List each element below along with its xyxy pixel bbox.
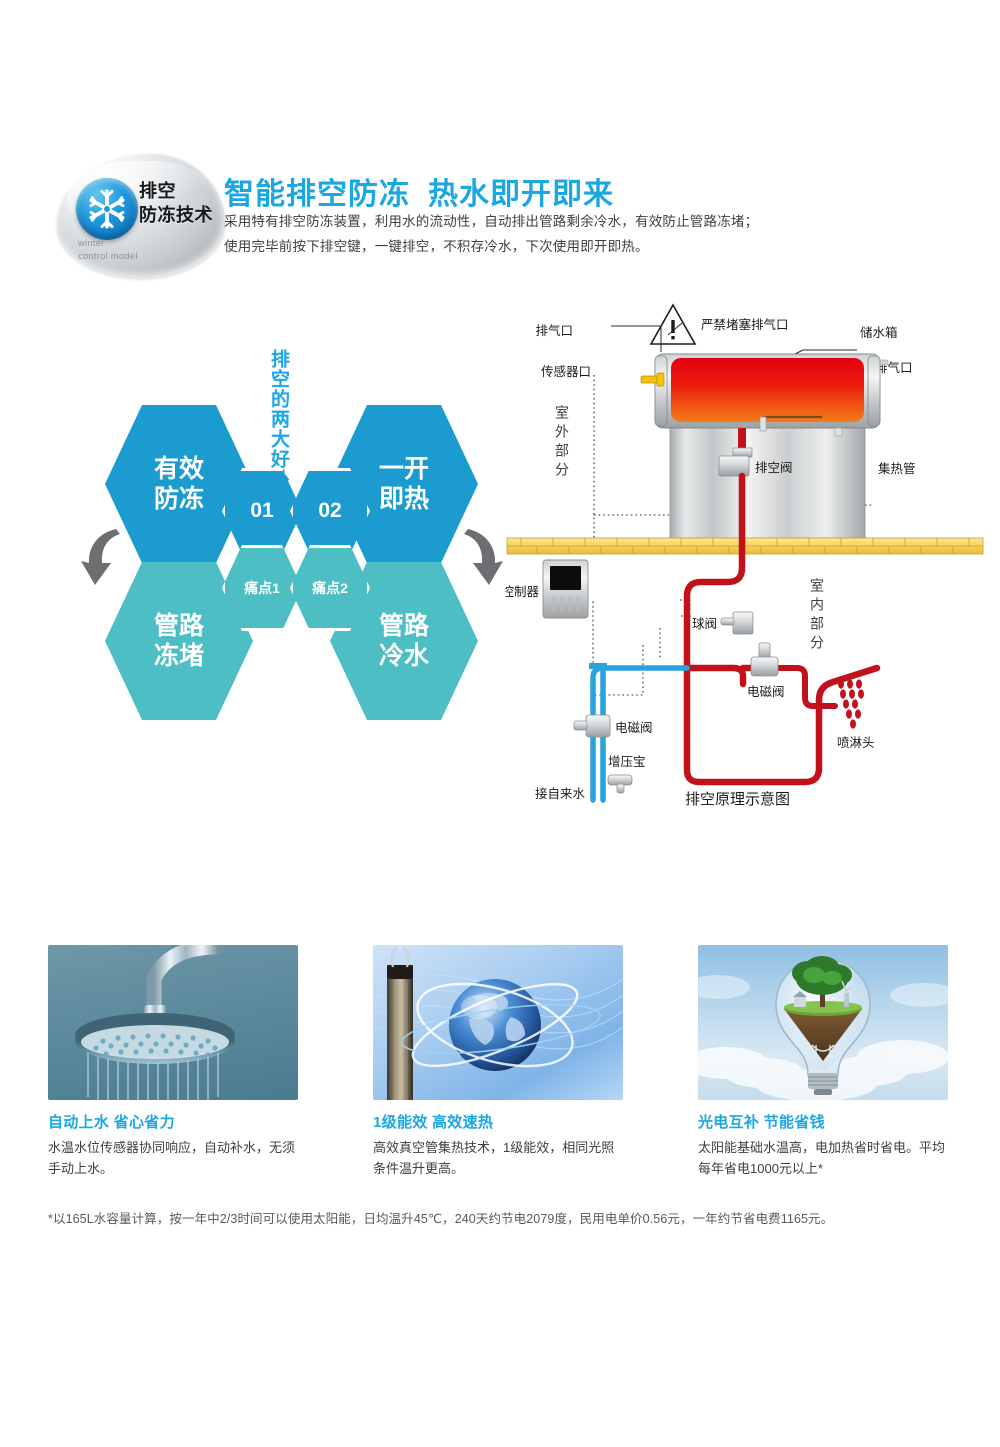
feature-card-3-title: 光电互补 节能省钱 <box>698 1111 948 1132</box>
eco-lightbulb-photo <box>698 945 948 1100</box>
sensor-port-fitting <box>641 373 664 386</box>
badge-cn-text: 排空 防冻技术 <box>139 180 223 228</box>
arrow-down-right-icon <box>458 527 504 587</box>
page-title-part1: 智能排空防冻 <box>224 178 410 211</box>
page-subtitle-line1: 采用特有排空防冻装置，利用水的流动性，自动排出管路剩余冷水，有效防止管路冻堵； <box>224 210 984 235</box>
hex-benefit-1-line1: 有效 <box>154 454 204 485</box>
drain-principle-schematic: 严禁堵塞排气口 排气口 传感器口 储水箱 排气口 集热管 <box>505 300 995 815</box>
badge-en-text: winter control model <box>78 237 198 263</box>
label-zone-indoor: 室内部分 <box>809 577 825 654</box>
hex-benefit-1-line2: 防冻 <box>154 484 204 515</box>
hex-painpoint-2-line2: 冷水 <box>379 641 429 672</box>
winter-control-badge: 排空 防冻技术 winter control model <box>57 154 225 278</box>
label-tap-water: 接自来水 <box>535 786 586 801</box>
feature-card-3-desc: 太阳能基础水温高，电加热省时省电。平均每年省电1000元以上* <box>698 1137 950 1179</box>
feature-card-2: 1级能效 高效速热 高效真空管集热技术，1级能效，相同光照条件温升更高。 <box>373 945 623 1179</box>
hex-benefit-1[interactable]: 有效 防冻 <box>105 405 253 563</box>
booster-pump <box>608 775 632 793</box>
hex-painpoint-2-line1: 管路 <box>379 611 429 642</box>
label-solenoid-valve-2: 电磁阀 <box>615 720 653 735</box>
label-ball-valve: 球阀 <box>692 617 717 631</box>
vacuum-tube-globe-photo <box>373 945 623 1100</box>
shower-head-photo <box>48 945 298 1100</box>
schematic-warning-label: 严禁堵塞排气口 <box>701 317 789 332</box>
label-collector-tube: 集热管 <box>878 461 916 476</box>
shower-head-icon <box>838 679 864 728</box>
label-solenoid-valve-1: 电磁阀 <box>747 684 785 699</box>
feature-card-2-title: 1级能效 高效速热 <box>373 1111 623 1132</box>
schematic-caption: 排空原理示意图 <box>685 790 790 808</box>
feature-card-2-desc: 高效真空管集热技术，1级能效，相同光照条件温升更高。 <box>373 1137 625 1179</box>
benefits-hex-diagram: 排空的两大好处 有效 防冻 01 一开 即热 02 管路 <box>80 345 510 705</box>
hex-benefit-2-line1: 一开 <box>379 454 429 485</box>
snowflake-icon <box>86 188 128 230</box>
label-booster: 增压宝 <box>608 754 646 769</box>
page-subtitle-line2: 使用完毕前按下排空键，一键排空，不积存冷水，下次使用即开即热。 <box>224 235 984 260</box>
solenoid-valve-cold <box>574 715 610 737</box>
badge-en-line1: winter <box>78 237 198 250</box>
hex-painpoint-1-line1: 管路 <box>154 611 204 642</box>
label-drain-valve: 排空阀 <box>755 461 793 475</box>
label-exhaust-left: 排气口 <box>535 323 573 338</box>
footnote: *以165L水容量计算，按一年中2/3时间可以使用太阳能，日均温升45℃，240… <box>48 1210 968 1229</box>
feature-card-3: 光电互补 节能省钱 太阳能基础水温高，电加热省时省电。平均每年省电1000元以上… <box>698 945 948 1179</box>
label-zone-outdoor: 室外部分 <box>554 404 570 481</box>
hex-painpoint-1-line2: 冻堵 <box>154 641 204 672</box>
label-sensor-port: 传感器口 <box>541 364 591 379</box>
feature-card-1-title: 自动上水 省心省力 <box>48 1111 298 1132</box>
page-subtitle: 采用特有排空防冻装置，利用水的流动性，自动排出管路剩余冷水，有效防止管路冻堵； … <box>224 210 984 260</box>
badge-cn-line1: 排空 <box>139 180 223 204</box>
feature-cards: 自动上水 省心省力 水温水位传感器协同响应，自动补水，无须手动上水。 <box>0 945 1000 1165</box>
feature-card-1: 自动上水 省心省力 水温水位传感器协同响应，自动补水，无须手动上水。 <box>48 945 298 1179</box>
label-controller: 控制器 <box>505 585 539 599</box>
label-water-tank: 储水箱 <box>860 325 898 340</box>
page-title-part2: 热水即开即来 <box>428 178 614 211</box>
ball-valve <box>721 612 753 634</box>
feature-card-1-desc: 水温水位传感器协同响应，自动补水，无须手动上水。 <box>48 1137 300 1179</box>
label-shower-head: 喷淋头 <box>837 736 875 750</box>
page-title: 智能排空防冻热水即开即来 <box>224 169 614 213</box>
promo-page: 排空 防冻技术 winter control model 智能排空防冻热水即开即… <box>0 0 1000 1447</box>
badge-cn-line2: 防冻技术 <box>139 204 223 228</box>
warning-triangle-icon <box>651 305 695 344</box>
controller-panel[interactable] <box>543 560 588 618</box>
arrow-down-left-icon <box>80 527 126 587</box>
solenoid-valve-hot <box>751 643 778 676</box>
schematic-svg: 严禁堵塞排气口 排气口 传感器口 储水箱 排气口 集热管 <box>505 300 995 815</box>
hex-benefit-2-line2: 即热 <box>379 484 429 515</box>
badge-en-line2: control model <box>78 250 198 263</box>
